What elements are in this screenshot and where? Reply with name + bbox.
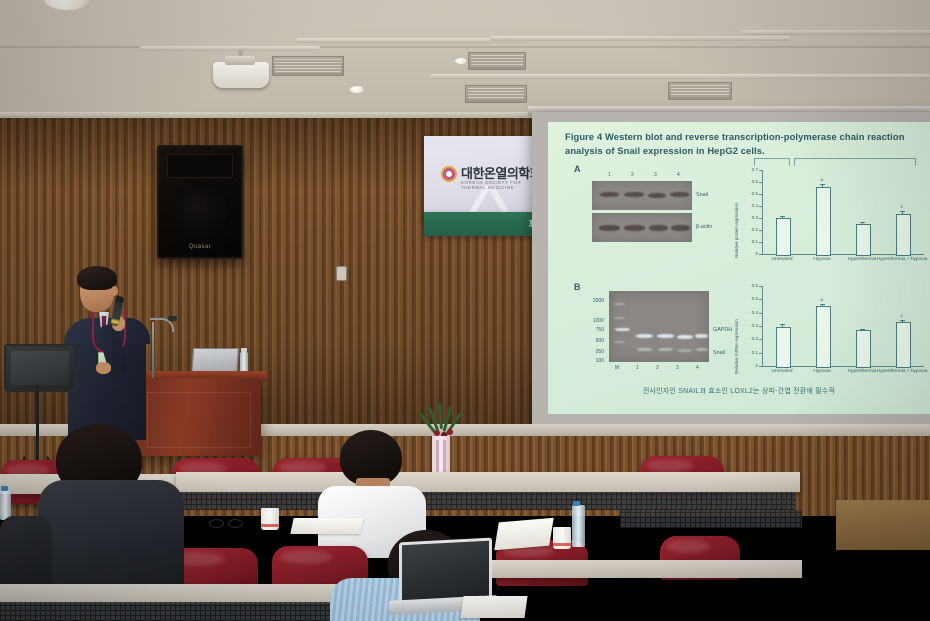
- y-tick-mark: [759, 326, 762, 327]
- ladder-marker: 1000: [584, 318, 604, 324]
- speaker-cone-icon: [171, 185, 227, 237]
- vase-ribbon: [436, 440, 439, 476]
- chart2-y-axis: [762, 286, 763, 366]
- slide-korean-caption: 전사인자인 SNAIL과 효소인 LOXL2는 상피-간엽 전환에 필수적: [548, 386, 930, 396]
- desk-papers: [460, 596, 527, 618]
- y-tick-label: 0.4: [743, 203, 758, 208]
- y-tick-mark: [759, 353, 762, 354]
- ceiling-light-icon: [44, 0, 90, 10]
- ladder-marker: 250: [584, 349, 604, 355]
- eyeglasses-lens: [209, 519, 224, 528]
- y-tick-mark: [759, 218, 762, 219]
- y-tick-mark: [759, 339, 762, 340]
- vase-ribbon: [443, 440, 446, 476]
- chart-mrna-expression: Relative mRNA expression 00.10.20.30.40.…: [726, 282, 926, 382]
- desk-papers: [290, 518, 363, 534]
- y-tick-mark: [759, 170, 762, 171]
- lane-number: 1: [636, 365, 639, 371]
- bottle-cap: [241, 348, 247, 352]
- stage-floor: [836, 500, 930, 550]
- y-tick-mark: [759, 194, 762, 195]
- ladder-marker: 2000: [584, 298, 604, 304]
- error-bar-cap: [820, 184, 825, 185]
- y-tick-mark: [759, 182, 762, 183]
- significance-label: c: [901, 313, 903, 318]
- presenter-hand: [96, 362, 111, 374]
- chart2-ylabel: Relative mRNA expression: [734, 319, 739, 374]
- y-tick-mark: [759, 313, 762, 314]
- eyeglasses-lens: [228, 519, 243, 528]
- presenter-ear: [111, 286, 118, 296]
- x-category-label: Hyperthermia + hypoxia: [872, 369, 930, 374]
- y-tick-label: 0: [743, 251, 758, 256]
- error-bar-cap: [820, 304, 825, 305]
- y-tick-mark: [759, 286, 762, 287]
- microphone-band: [111, 319, 120, 324]
- rt-pcr-gel: [609, 291, 709, 362]
- y-tick-mark: [759, 366, 762, 367]
- ceiling-air-vent: [668, 82, 732, 100]
- gel-label-snail: Snail: [713, 350, 725, 356]
- bottle-cap: [1, 486, 8, 491]
- y-tick-label: 0.5: [743, 191, 758, 196]
- ceiling-rail: [490, 36, 790, 41]
- error-bar-cap: [860, 222, 865, 223]
- bar: [816, 306, 831, 368]
- bar: [896, 322, 911, 368]
- y-tick-label: 0.7: [743, 167, 758, 172]
- y-tick-label: 0.4: [743, 310, 758, 315]
- y-tick-mark: [759, 230, 762, 231]
- y-tick-label: 0.1: [743, 350, 758, 355]
- lane-number: 4: [677, 172, 680, 178]
- significance-label: c: [901, 204, 903, 209]
- lane-number: 3: [654, 172, 657, 178]
- chart1-ylabel: Relative protein expression: [734, 203, 739, 258]
- ceiling-air-vent: [272, 56, 344, 76]
- ceiling-downlight-icon: [455, 58, 467, 64]
- y-tick-mark: [759, 242, 762, 243]
- desk-wire-shelf: [620, 510, 802, 528]
- water-bottle: [572, 505, 585, 547]
- paper-cup: [553, 527, 571, 549]
- y-tick-label: 0.3: [743, 323, 758, 328]
- lane-number: 2: [631, 172, 634, 178]
- significance-label: a: [821, 297, 824, 302]
- cup-stripe: [261, 524, 279, 527]
- panel-a-letter: A: [574, 164, 581, 174]
- eyeglasses: [209, 519, 243, 527]
- projector-lens-icon: [225, 56, 255, 65]
- error-bar-cap: [860, 329, 865, 330]
- western-blot-bactin: [592, 213, 692, 242]
- lane-number: 3: [676, 365, 679, 371]
- ceiling-downlight-icon: [350, 86, 364, 93]
- speaker-brand-label: Quasar: [159, 244, 241, 250]
- bar: [776, 218, 791, 256]
- y-tick-label: 0.1: [743, 239, 758, 244]
- gooseneck-mic-head-icon: [168, 316, 177, 321]
- western-blot-snail: [592, 181, 692, 210]
- projected-slide: Figure 4 Western blot and reverse transc…: [548, 122, 930, 414]
- podium: [137, 378, 261, 456]
- wall-outlet: [336, 266, 347, 281]
- error-bar-cap: [900, 320, 905, 321]
- ladder-marker: 500: [584, 338, 604, 344]
- monitor-screen: [11, 351, 69, 385]
- error-bar-cap: [900, 211, 905, 212]
- ceiling-projector: [213, 62, 269, 88]
- ceiling-rail: [430, 74, 930, 79]
- stage-floor-monitor: [4, 344, 76, 392]
- panel-b-letter: B: [574, 282, 581, 292]
- bar: [856, 330, 871, 368]
- paper-cup: [261, 508, 279, 530]
- ceiling-rail: [742, 30, 930, 35]
- wall-speaker: Quasar: [157, 145, 243, 259]
- y-tick-label: 0.5: [743, 296, 758, 301]
- bar: [856, 224, 871, 256]
- desk-wire-shelf: [0, 602, 372, 621]
- ladder-marker: 750: [584, 327, 604, 333]
- society-logo-icon: [441, 166, 457, 182]
- cup-stripe: [553, 543, 571, 546]
- significance-bracket: [794, 158, 916, 166]
- x-category-label: Hyperthermia + hypoxia: [872, 257, 930, 262]
- slide-title: Figure 4 Western blot and reverse transc…: [565, 130, 917, 158]
- ladder-marker: 100: [584, 358, 604, 364]
- error-bar-cap: [780, 324, 785, 325]
- y-tick-label: 0.6: [743, 179, 758, 184]
- ceiling-rail: [140, 46, 320, 51]
- microphone-head-icon: [115, 296, 124, 303]
- bar: [776, 327, 791, 368]
- chart1-y-axis: [762, 170, 763, 254]
- chart-protein-expression: Relative protein expression 00.10.20.30.…: [726, 166, 926, 266]
- y-tick-mark: [759, 206, 762, 207]
- lane-number: 2: [656, 365, 659, 371]
- audience-desk: [0, 584, 372, 604]
- error-bar-cap: [780, 216, 785, 217]
- audience-desk: [482, 560, 802, 578]
- y-tick-label: 0.6: [743, 283, 758, 288]
- significance-label: a: [821, 177, 824, 182]
- ceiling-air-vent: [465, 85, 527, 103]
- ceiling-air-vent: [468, 52, 526, 70]
- audience-desk: [176, 472, 800, 492]
- y-tick-mark: [759, 299, 762, 300]
- banner-green-band: 후: [424, 212, 546, 236]
- bar: [896, 214, 911, 256]
- bar: [816, 187, 831, 256]
- desk-papers: [494, 518, 553, 551]
- presenter-hair: [77, 266, 117, 290]
- significance-bracket: [754, 158, 790, 166]
- society-banner: 대한온열의학회 KOREAN SOCIETY FOR THERMAL MEDIC…: [424, 136, 546, 220]
- y-tick-label: 0.2: [743, 336, 758, 341]
- lecture-hall-photo: Quasar 대한온열의학회 KOREAN SOCIETY FOR THERMA…: [0, 0, 930, 621]
- lane-number: 4: [696, 365, 699, 371]
- blot-label-snail: Snail: [696, 192, 708, 198]
- podium-panel: [147, 392, 251, 448]
- blot-label-bactin: β-actin: [696, 224, 712, 230]
- y-tick-label: 0.2: [743, 227, 758, 232]
- speaker-port: [167, 154, 233, 178]
- bottle-cap: [573, 501, 580, 506]
- lane-number: 1: [608, 172, 611, 178]
- y-tick-mark: [759, 254, 762, 255]
- y-tick-label: 0.3: [743, 215, 758, 220]
- lane-number: M: [615, 365, 619, 371]
- y-tick-label: 0: [743, 363, 758, 368]
